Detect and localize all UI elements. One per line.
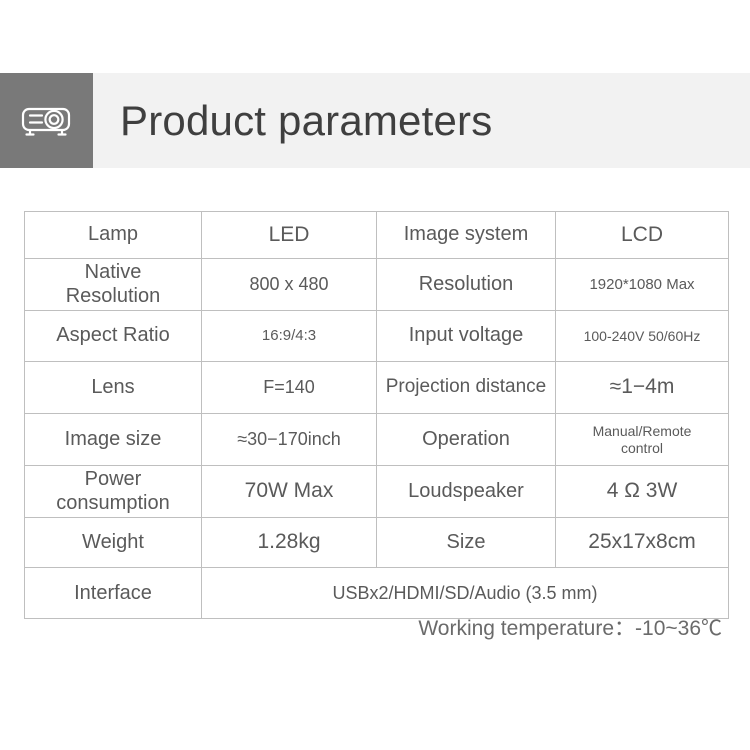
cell-value-projection-distance: ≈1−4m — [556, 362, 729, 414]
product-parameters-page: Product parameters Lamp LED Image system… — [0, 0, 750, 750]
cell-value-native-resolution: 800 x 480 — [202, 259, 377, 311]
table-row: Native Resolution 800 x 480 Resolution 1… — [25, 259, 729, 311]
cell-label-power-consumption: Power consumption — [25, 466, 202, 518]
working-temperature-note: Working temperature：-10~36℃ — [24, 612, 728, 642]
cell-value-lamp: LED — [202, 212, 377, 259]
cell-value-operation: Manual/Remote control — [556, 414, 729, 466]
cell-label-operation: Operation — [377, 414, 556, 466]
cell-value-input-voltage: 100-240V 50/60Hz — [556, 311, 729, 362]
table-row: Lamp LED Image system LCD — [25, 212, 729, 259]
header-icon-box — [0, 73, 93, 168]
cell-label-image-system: Image system — [377, 212, 556, 259]
cell-value-size: 25x17x8cm — [556, 518, 729, 568]
cell-label-loudspeaker: Loudspeaker — [377, 466, 556, 518]
cell-value-image-system: LCD — [556, 212, 729, 259]
table-row: Lens F=140 Projection distance ≈1−4m — [25, 362, 729, 414]
cell-value-power-consumption: 70W Max — [202, 466, 377, 518]
cell-value-aspect-ratio: 16:9/4:3 — [202, 311, 377, 362]
cell-value-resolution: 1920*1080 Max — [556, 259, 729, 311]
projector-icon — [21, 103, 73, 139]
cell-label-aspect-ratio: Aspect Ratio — [25, 311, 202, 362]
cell-label-lamp: Lamp — [25, 212, 202, 259]
cell-value-weight: 1.28kg — [202, 518, 377, 568]
page-title: Product parameters — [93, 73, 750, 168]
cell-label-weight: Weight — [25, 518, 202, 568]
table-row: Weight 1.28kg Size 25x17x8cm — [25, 518, 729, 568]
table-row: Aspect Ratio 16:9/4:3 Input voltage 100-… — [25, 311, 729, 362]
cell-value-loudspeaker: 4 Ω 3W — [556, 466, 729, 518]
cell-label-image-size: Image size — [25, 414, 202, 466]
cell-label-size: Size — [377, 518, 556, 568]
table-row: Power consumption 70W Max Loudspeaker 4 … — [25, 466, 729, 518]
specification-table: Lamp LED Image system LCD Native Resolut… — [24, 211, 729, 619]
cell-label-lens: Lens — [25, 362, 202, 414]
header-banner: Product parameters — [0, 73, 750, 168]
cell-value-lens: F=140 — [202, 362, 377, 414]
cell-label-resolution: Resolution — [377, 259, 556, 311]
cell-label-input-voltage: Input voltage — [377, 311, 556, 362]
cell-value-image-size: ≈30−170inch — [202, 414, 377, 466]
cell-label-projection-distance: Projection distance — [377, 362, 556, 414]
cell-label-native-resolution: Native Resolution — [25, 259, 202, 311]
table-row: Image size ≈30−170inch Operation Manual/… — [25, 414, 729, 466]
